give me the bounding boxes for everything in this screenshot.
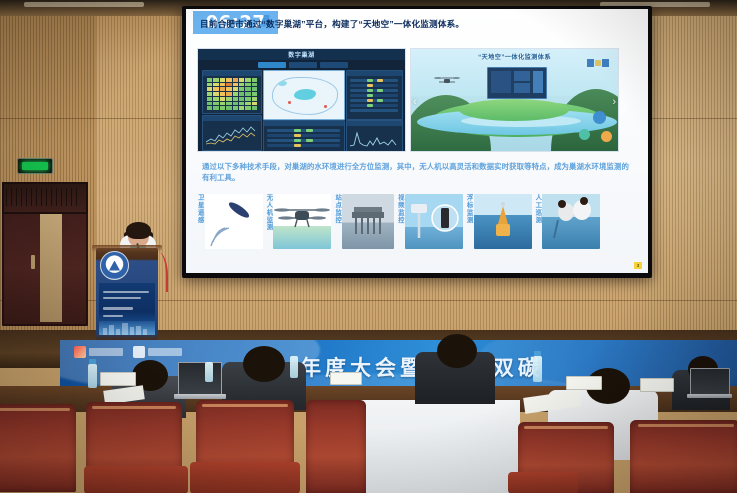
- card-header: [203, 116, 261, 121]
- buoy-icon: [474, 194, 532, 249]
- camera-icon: [405, 194, 463, 249]
- card-header: [203, 71, 261, 76]
- dashboard-card-heatmap: [202, 70, 262, 114]
- dashboard-tab: [289, 62, 317, 68]
- satellite-icon: [205, 194, 263, 249]
- foreground-table-surface: [360, 400, 520, 493]
- dashboard-card-algae: [346, 120, 403, 152]
- legend-bubble: [593, 111, 606, 124]
- audience-person-head: [437, 334, 477, 368]
- institution-emblem-icon: [100, 251, 129, 280]
- method-label: 视频监控: [396, 194, 403, 250]
- dashboard-card-table: [346, 70, 403, 120]
- method-item: 无人机监测: [265, 194, 332, 250]
- map-marker-icon: [288, 101, 291, 104]
- water-bottle: [205, 362, 213, 382]
- door-opening: [40, 208, 62, 322]
- dashboard-tab: [258, 62, 286, 68]
- card-header: [347, 121, 402, 126]
- door-handle-icon[interactable]: [31, 255, 35, 269]
- dashboard-card-map: [263, 70, 345, 120]
- method-item: 站点监控: [333, 194, 394, 250]
- slide-page-number: 3: [634, 262, 642, 269]
- org-logo-1: [74, 346, 123, 358]
- dashboard-card-station-table: [263, 120, 345, 152]
- name-card: [566, 376, 602, 390]
- trend-sparkline: [206, 124, 258, 146]
- seat-cushion: [508, 472, 578, 493]
- satellite-icon: [587, 55, 609, 71]
- seat-cushion: [84, 466, 188, 493]
- name-card: [330, 372, 362, 385]
- method-label: 卫星遥感: [196, 194, 203, 250]
- dashboard-title: 数字巢湖: [198, 49, 405, 60]
- door-grille: [6, 188, 80, 206]
- seat-trim: [202, 404, 288, 407]
- method-label: 无人机监测: [265, 194, 272, 250]
- dashboard-screenshot: 数字巢湖: [197, 48, 406, 152]
- card-header: [264, 121, 344, 126]
- slide-body-text: 通过以下多种技术手段，对巢湖的水环境进行全方位监测，其中，无人机以高灵活和数据实…: [202, 161, 634, 184]
- station-icon: [342, 194, 394, 249]
- dashboard-tab: [320, 62, 348, 68]
- banner-logos: [74, 346, 182, 358]
- method-item: 卫星遥感: [196, 194, 263, 250]
- drone-icon: [273, 194, 331, 249]
- algae-sparkline: [350, 129, 399, 148]
- method-item: 人工巡测: [534, 194, 601, 250]
- auditorium-seat[interactable]: [306, 400, 366, 493]
- island: [459, 99, 569, 121]
- podium-banner: [99, 283, 155, 335]
- slide-heading: 目前合肥市通过“数字巢湖”平台，构建了“天地空”一体化监测体系。: [200, 18, 464, 30]
- seat-trim: [638, 424, 734, 427]
- heatmap-grid: [207, 78, 257, 110]
- presentation-slide: 景 06:27 目前合肥市通过“数字巢湖”平台，构建了“天地空”一体化监测体系。…: [186, 9, 648, 273]
- org-logo-2: [133, 346, 182, 358]
- speaker-hair: [126, 222, 151, 239]
- method-item: 浮标监测: [465, 194, 532, 250]
- water-bottle: [88, 364, 97, 388]
- conference-room-photo: 景 06:27 目前合肥市通过“数字巢湖”平台，构建了“天地空”一体化监测体系。…: [0, 0, 737, 493]
- bottle-cap: [89, 359, 96, 364]
- method-label: 站点监控: [333, 194, 340, 250]
- auditorium-seat[interactable]: [0, 404, 76, 492]
- seat-trim: [92, 406, 176, 409]
- skyline-graphic: [99, 321, 155, 335]
- bottle-cap: [534, 351, 541, 356]
- audience-person-head: [243, 346, 285, 382]
- water-bottle: [533, 356, 542, 382]
- method-item: 视频监控: [396, 194, 463, 250]
- dashboard-card-trend: [202, 115, 262, 151]
- method-label: 人工巡测: [534, 194, 541, 250]
- card-header: [347, 71, 402, 76]
- monitoring-system-illustration: “天地空”一体化监测体系: [410, 48, 619, 152]
- monitoring-methods-row: 卫星遥感 无人机监测: [196, 194, 640, 256]
- exit-sign-icon: [22, 162, 48, 170]
- drone-icon: [433, 73, 461, 89]
- map-marker-icon: [324, 105, 327, 108]
- name-card: [640, 378, 674, 392]
- legend-bubble: [579, 129, 590, 140]
- right-wall-panel: [645, 0, 737, 365]
- seat-cushion: [190, 462, 300, 493]
- auditorium-seat[interactable]: [630, 420, 737, 493]
- seat-trim: [0, 408, 70, 411]
- sampling-icon: [542, 194, 600, 249]
- podium-top: [92, 245, 162, 252]
- name-card: [100, 372, 136, 386]
- method-label: 浮标监测: [465, 194, 472, 250]
- exit-sign: [17, 158, 53, 174]
- carousel-prev-icon[interactable]: ‹: [413, 96, 417, 108]
- seat-trim: [524, 426, 608, 429]
- dashboard-tabs: [258, 62, 348, 68]
- water-bottle: [290, 356, 298, 378]
- legend-bubble: [601, 131, 612, 142]
- projection-screen: 景 06:27 目前合肥市通过“数字巢湖”平台，构建了“天地空”一体化监测体系。…: [186, 9, 648, 273]
- floating-dashboard: [487, 67, 547, 99]
- ceiling-light: [24, 2, 144, 7]
- carousel-next-icon[interactable]: ›: [612, 96, 616, 108]
